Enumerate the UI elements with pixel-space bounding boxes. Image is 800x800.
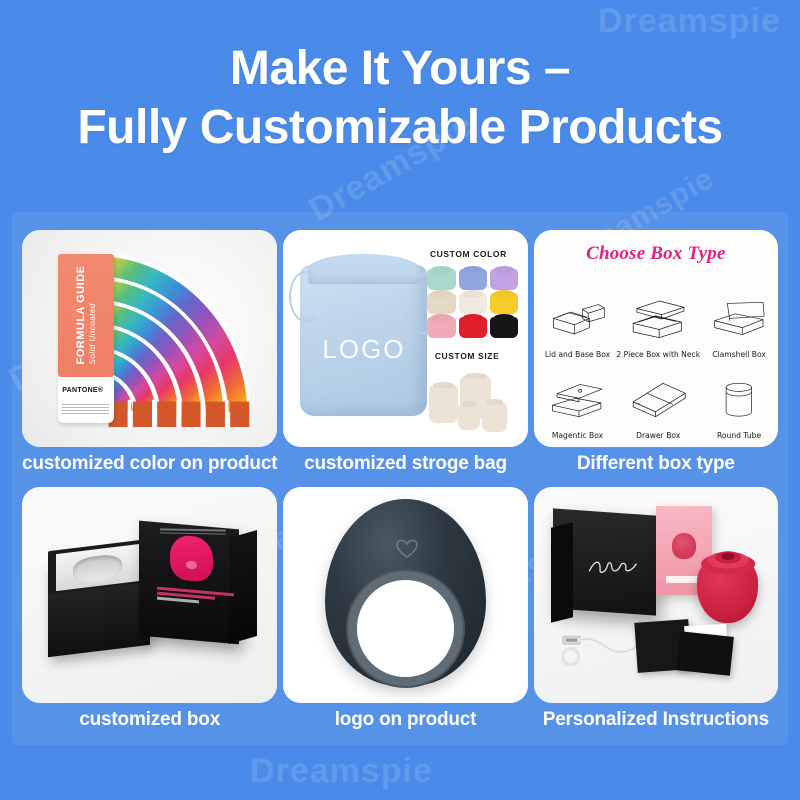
color-swatch-bag-1 — [427, 269, 455, 290]
watermark-top-right: Dreamspie — [598, 2, 781, 41]
pantone-guide-image: FORMULA GUIDE Solid Uncoated PANTONE® — [22, 230, 277, 447]
lid-and-base-box-icon — [549, 290, 607, 348]
box-type-clamshell: Clamshell Box — [700, 278, 778, 359]
feature-cell-box-type[interactable]: Choose Box Type — [534, 230, 778, 481]
logo-on-product-image — [283, 487, 527, 704]
custom-size-label: CUSTOM SIZE — [435, 351, 500, 361]
storage-bag-image: LOGO CUSTOM COLOR CUSTOM SIZE — [283, 230, 527, 447]
caption-customized-box: customized box — [22, 703, 277, 737]
color-swatch-bag-2 — [459, 269, 487, 290]
box-type-round-tube: Round Tube — [700, 359, 778, 440]
feature-grid: FORMULA GUIDE Solid Uncoated PANTONE® cu… — [12, 212, 788, 745]
pantone-fineprint — [62, 404, 109, 416]
box-type-magnetic: Magentic Box — [539, 359, 617, 440]
gift-box-script-logo — [587, 553, 642, 580]
two-piece-box-with-neck-icon — [627, 290, 689, 348]
pantone-book-title: FORMULA GUIDE Solid Uncoated — [75, 266, 97, 365]
page-title-line-1: Make It Yours – — [0, 40, 800, 99]
round-tube-icon — [710, 371, 768, 429]
size-bag-small — [458, 404, 479, 430]
custom-color-swatches — [427, 269, 517, 338]
box-type-label: Drawer Box — [636, 431, 680, 440]
box-type-grid: Lid and Base Box — [539, 278, 778, 440]
heart-icon — [396, 539, 418, 559]
pantone-brand-logo: PANTONE® — [62, 387, 103, 394]
watermark-bottom: Dreamspie — [250, 752, 433, 791]
drawstring-left — [289, 271, 322, 323]
box-type-label: Lid and Base Box — [545, 350, 610, 359]
drawer-box-icon — [627, 371, 689, 429]
caption-box-type: Different box type — [534, 447, 778, 481]
card-storage-bag[interactable]: LOGO CUSTOM COLOR CUSTOM SIZE — [283, 230, 527, 447]
box-type-label: Clamshell Box — [712, 350, 766, 359]
color-swatch-bag-3 — [490, 269, 518, 290]
card-logo-on-product[interactable] — [283, 487, 527, 704]
caption-storage-bag: customized stroge bag — [283, 447, 527, 481]
black-instruction-card-2 — [676, 631, 734, 675]
black-gift-box-side — [551, 523, 573, 624]
color-swatch-bag-6 — [490, 293, 518, 314]
size-bag-medium — [482, 402, 507, 432]
card-customized-box[interactable] — [22, 487, 277, 704]
caption-customized-color: customized color on product — [22, 447, 277, 481]
feature-cell-storage-bag[interactable]: LOGO CUSTOM COLOR CUSTOM SIZE customized… — [283, 230, 527, 481]
main-drawstring-bag: LOGO — [300, 265, 427, 417]
feature-cell-customized-color[interactable]: FORMULA GUIDE Solid Uncoated PANTONE® cu… — [22, 230, 277, 481]
size-bag-large — [429, 385, 458, 423]
magnetic-box-icon — [549, 371, 607, 429]
solid-uncoated-text: Solid Uncoated — [88, 266, 97, 365]
box-type-image: Choose Box Type — [534, 230, 778, 447]
instruction-card-product-image — [672, 533, 697, 560]
box-type-label: Round Tube — [717, 431, 761, 440]
color-swatch-bag-5 — [459, 293, 487, 314]
pantone-guide-book: FORMULA GUIDE Solid Uncoated PANTONE® — [58, 254, 114, 423]
printed-product-box-side — [229, 530, 257, 644]
feature-cell-customized-box[interactable]: customized box — [22, 487, 277, 738]
box-type-lid-and-base: Lid and Base Box — [539, 278, 617, 359]
bag-logo-text: LOGO — [300, 334, 427, 365]
pantone-color-fan-icon — [93, 247, 267, 429]
custom-color-label: CUSTOM COLOR — [430, 249, 507, 259]
rose-product-petals — [700, 547, 756, 575]
page-title: Make It Yours – Fully Customizable Produ… — [0, 40, 800, 157]
card-personalized-instructions[interactable] — [534, 487, 778, 704]
customized-box-image — [22, 487, 277, 704]
color-swatch-bag-9 — [490, 317, 518, 338]
clamshell-box-icon — [710, 290, 768, 348]
box-type-2-piece-neck: 2 Piece Box with Neck — [616, 278, 700, 359]
caption-logo-on-product: logo on product — [283, 703, 527, 737]
color-swatch-bag-8 — [459, 317, 487, 338]
color-swatch-bag-4 — [427, 293, 455, 314]
page-title-line-2: Fully Customizable Products — [0, 99, 800, 158]
feature-cell-logo-on-product[interactable]: logo on product — [283, 487, 527, 738]
personalized-instructions-image — [534, 487, 778, 704]
feature-cell-personalized-instructions[interactable]: Personalized Instructions — [534, 487, 778, 738]
custom-size-bags — [425, 371, 523, 436]
ring-product-opening — [357, 580, 455, 677]
box-type-label: 2 Piece Box with Neck — [616, 350, 700, 359]
card-box-type[interactable]: Choose Box Type — [534, 230, 778, 447]
box-type-label: Magentic Box — [552, 431, 603, 440]
box-type-drawer: Drawer Box — [616, 359, 700, 440]
color-swatch-bag-7 — [427, 317, 455, 338]
pantone-book-cover: FORMULA GUIDE Solid Uncoated — [58, 254, 114, 377]
formula-guide-text: FORMULA GUIDE — [75, 266, 87, 365]
choose-box-type-title: Choose Box Type — [534, 243, 778, 265]
caption-personalized-instructions: Personalized Instructions — [534, 703, 778, 737]
card-customized-color[interactable]: FORMULA GUIDE Solid Uncoated PANTONE® — [22, 230, 277, 447]
